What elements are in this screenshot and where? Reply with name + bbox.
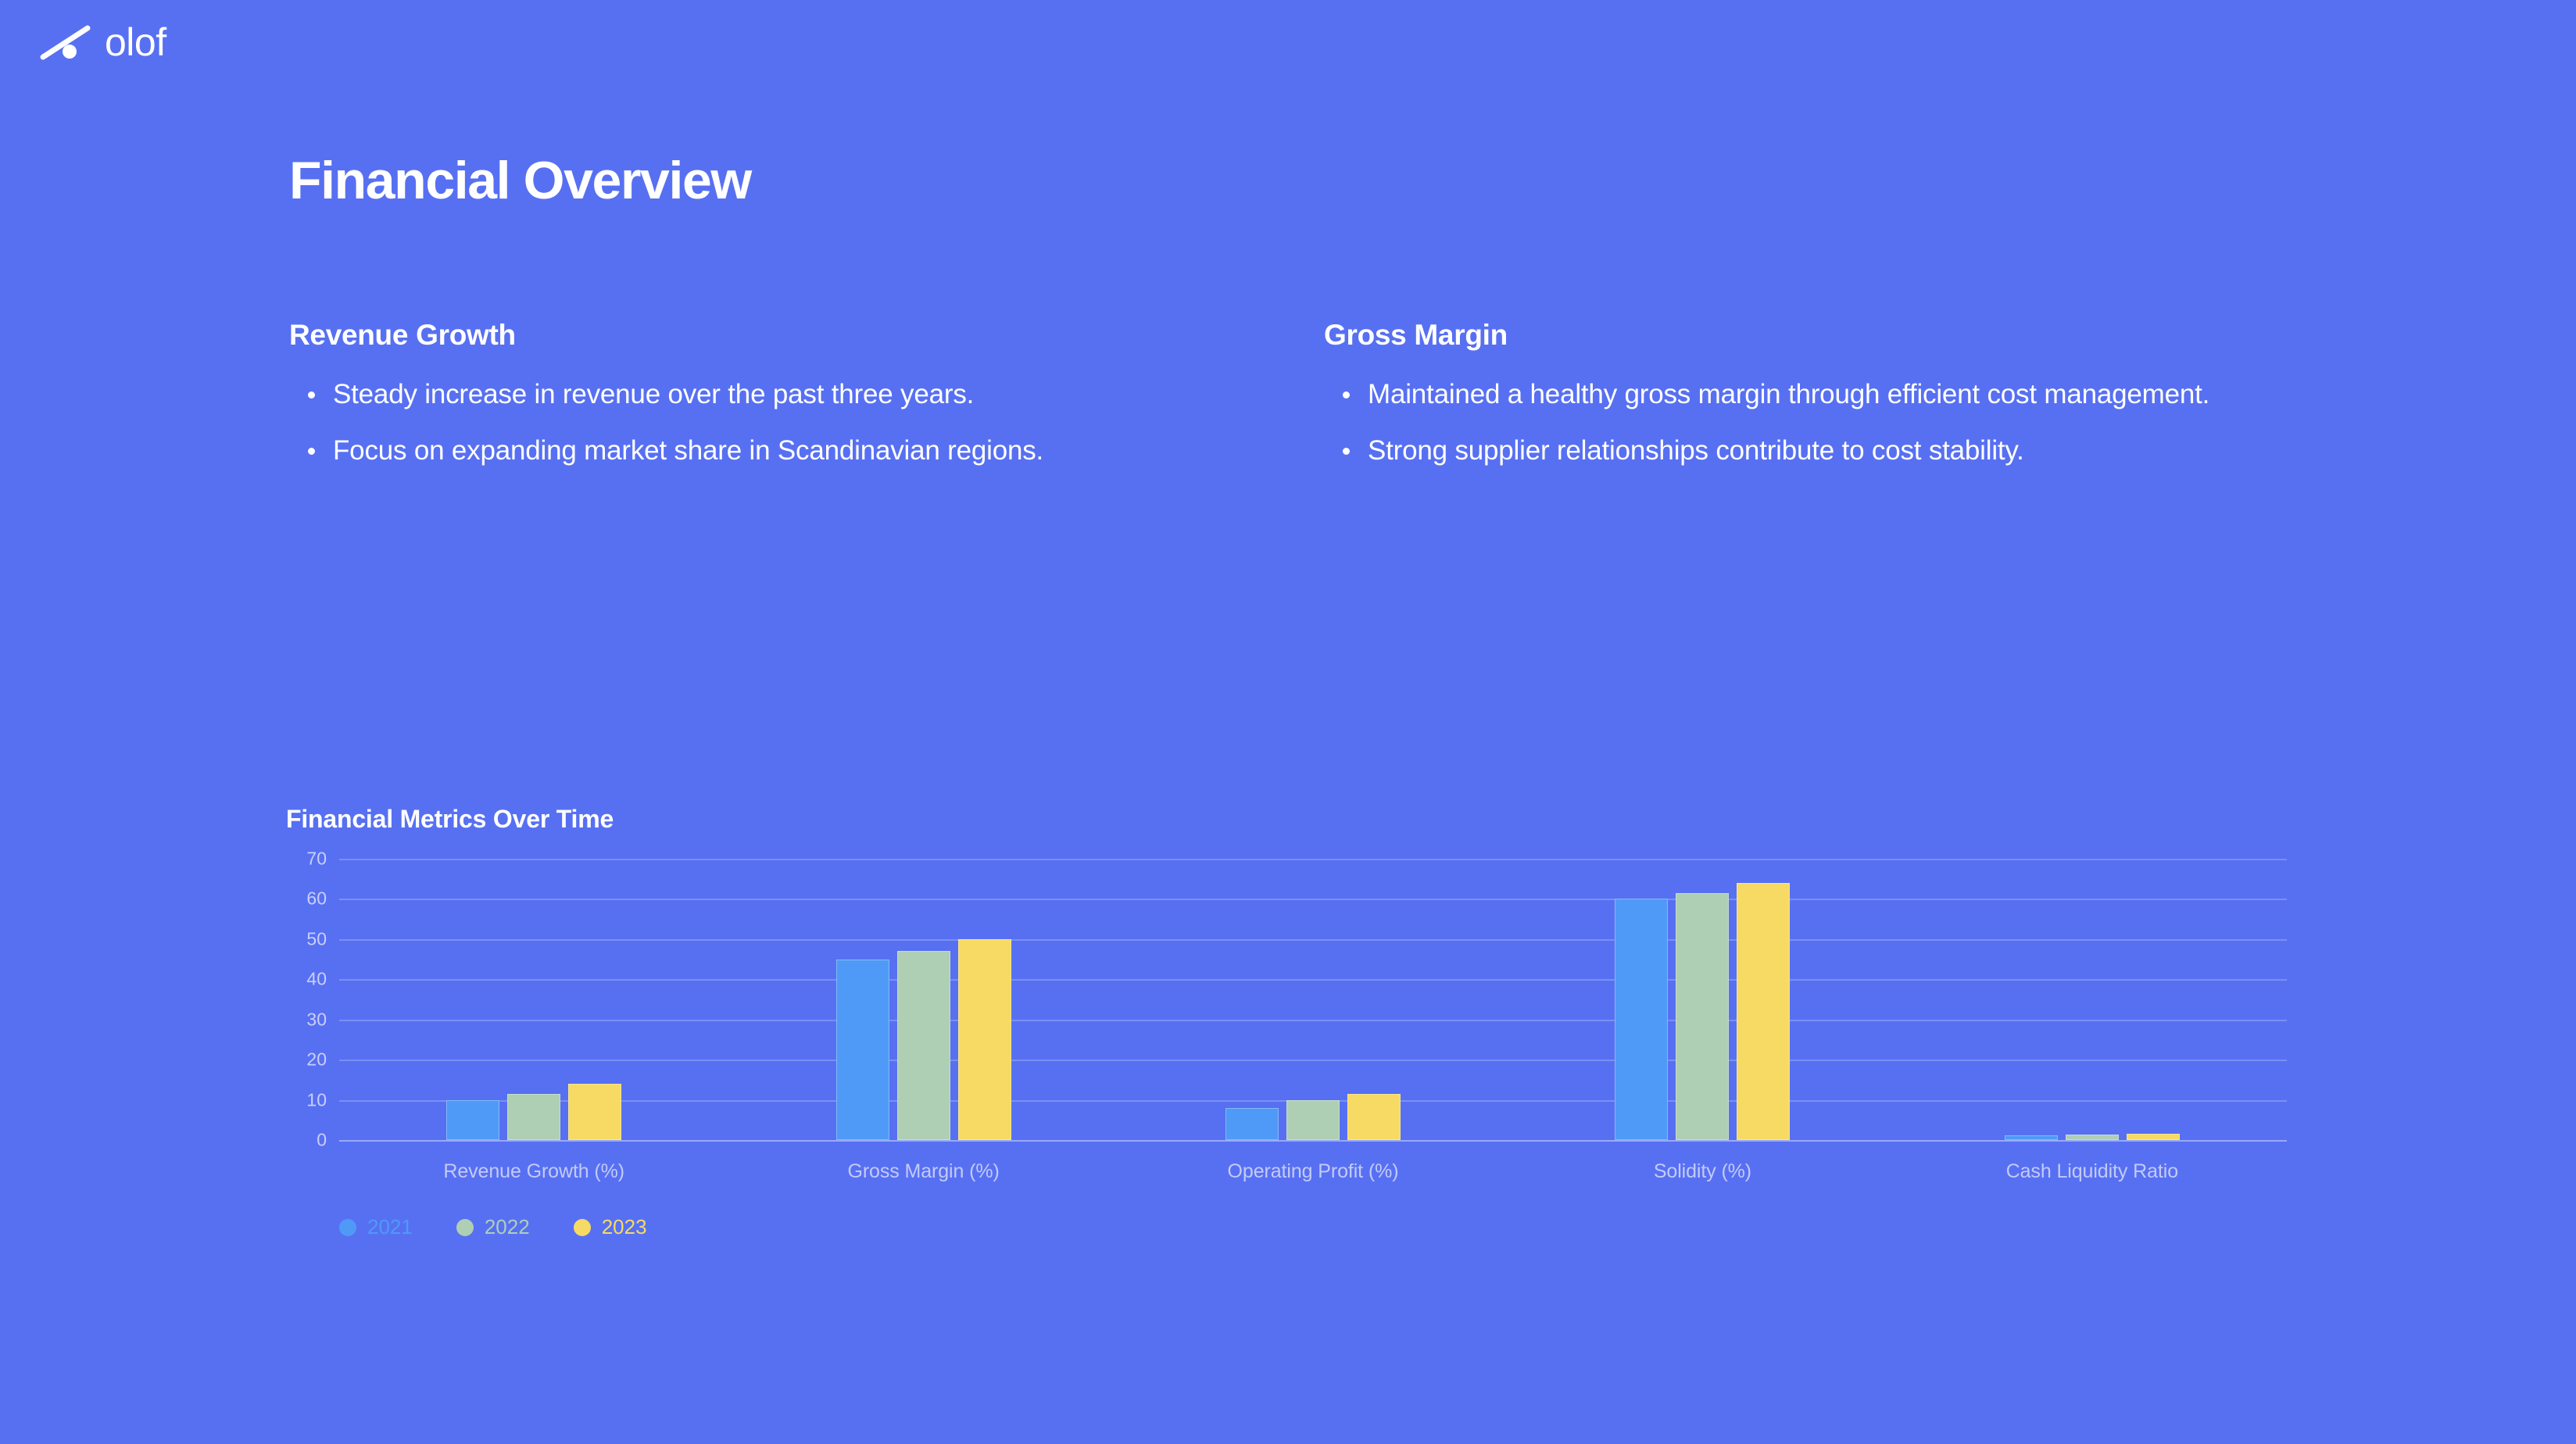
chart-block: Financial Metrics Over Time 010203040506… [286, 805, 2287, 1148]
page-title: Financial Overview [289, 152, 751, 210]
gridline [339, 1140, 2287, 1142]
list-item: Strong supplier relationships contribute… [1368, 431, 2262, 470]
legend-label: 2021 [367, 1215, 413, 1239]
bar-group [1508, 859, 1897, 1140]
bar-2023-2[interactable] [1347, 1094, 1401, 1140]
y-axis-tick: 20 [306, 1051, 327, 1069]
bar-2021-0[interactable] [446, 1100, 499, 1140]
bar-2021-3[interactable] [1615, 899, 1668, 1140]
brand-name: olof [105, 23, 166, 62]
bar-group [1118, 859, 1508, 1140]
bar-2023-3[interactable] [1737, 883, 1790, 1140]
bar-group [728, 859, 1118, 1140]
legend-label: 2022 [485, 1215, 530, 1239]
legend-item-2022[interactable]: 2022 [456, 1215, 530, 1239]
column-revenue-growth: Revenue Growth Steady increase in revenu… [289, 317, 1227, 488]
bullet-list: Steady increase in revenue over the past… [289, 375, 1227, 470]
legend-swatch-icon [574, 1219, 591, 1236]
plot-area [339, 859, 2287, 1140]
x-axis-label: Solidity (%) [1508, 1160, 1897, 1183]
column-heading: Gross Margin [1324, 317, 2262, 353]
y-axis-tick: 0 [317, 1131, 327, 1149]
list-item: Focus on expanding market share in Scand… [333, 431, 1227, 470]
bar-2021-2[interactable] [1225, 1108, 1279, 1140]
slide-root: olof Financial Overview Revenue Growth S… [0, 0, 2576, 1444]
column-gross-margin: Gross Margin Maintained a healthy gross … [1324, 317, 2262, 488]
x-axis-label: Operating Profit (%) [1118, 1160, 1508, 1183]
bar-2023-4[interactable] [2127, 1134, 2180, 1140]
bar-2021-4[interactable] [2005, 1135, 2058, 1140]
y-axis-tick: 40 [306, 970, 327, 988]
brand-logo[interactable]: olof [39, 22, 166, 63]
bar-2022-0[interactable] [507, 1094, 560, 1140]
x-axis-label: Revenue Growth (%) [339, 1160, 728, 1183]
legend-label: 2023 [602, 1215, 647, 1239]
list-item: Steady increase in revenue over the past… [333, 375, 1227, 414]
legend-item-2023[interactable]: 2023 [574, 1215, 647, 1239]
legend-swatch-icon [339, 1219, 356, 1236]
x-axis-labels: Revenue Growth (%)Gross Margin (%)Operat… [339, 1160, 2287, 1183]
x-axis-label: Cash Liquidity Ratio [1898, 1160, 2287, 1183]
content-columns: Revenue Growth Steady increase in revenu… [289, 317, 2321, 488]
y-axis-tick: 60 [306, 890, 327, 908]
bar-2022-2[interactable] [1286, 1100, 1340, 1140]
y-axis-tick: 70 [306, 850, 327, 868]
legend-swatch-icon [456, 1219, 474, 1236]
y-axis-tick: 30 [306, 1010, 327, 1028]
column-heading: Revenue Growth [289, 317, 1227, 353]
trend-line-dot-icon [39, 22, 92, 63]
bar-2022-4[interactable] [2066, 1135, 2119, 1140]
bar-2022-3[interactable] [1676, 893, 1729, 1140]
list-item: Maintained a healthy gross margin throug… [1368, 375, 2262, 414]
x-axis-label: Gross Margin (%) [728, 1160, 1118, 1183]
bar-group [339, 859, 728, 1140]
bar-groups [339, 859, 2287, 1140]
y-axis: 010203040506070 [286, 859, 327, 1140]
chart-title: Financial Metrics Over Time [286, 805, 2287, 834]
chart-legend[interactable]: 202120222023 [339, 1215, 647, 1239]
bar-2021-1[interactable] [836, 960, 889, 1140]
bar-group [1898, 859, 2287, 1140]
bar-chart: 010203040506070 Revenue Growth (%)Gross … [286, 859, 2287, 1148]
y-axis-tick: 10 [306, 1091, 327, 1109]
bar-2023-0[interactable] [568, 1084, 621, 1140]
bar-2023-1[interactable] [958, 939, 1011, 1140]
y-axis-tick: 50 [306, 930, 327, 948]
bullet-list: Maintained a healthy gross margin throug… [1324, 375, 2262, 470]
legend-item-2021[interactable]: 2021 [339, 1215, 413, 1239]
bar-2022-1[interactable] [897, 951, 950, 1140]
